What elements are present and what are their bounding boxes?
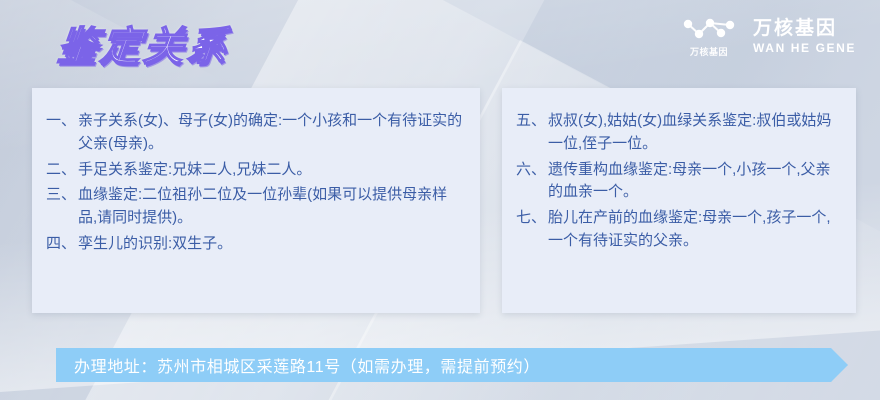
header: 鉴定关系	[0, 0, 880, 88]
list-item: 二、 手足关系鉴定:兄妹二人,兄妹二人。	[46, 159, 464, 182]
brand-mark-label: 万核基因	[690, 45, 728, 58]
address-banner: 办理地址：苏州市相城区采莲路11号（如需办理，需提前预约）	[56, 348, 848, 382]
list-item-text: 亲子关系(女)、母子(女)的确定:一个小孩和一个有待证实的父亲(母亲)。	[78, 110, 464, 156]
address-text: 办理地址：苏州市相城区采莲路11号（如需办理，需提前预约）	[74, 348, 540, 382]
list-item-number: 二、	[46, 159, 78, 182]
list-item: 三、 血缘鉴定:二位祖孙二位及一位孙辈(如果可以提供母亲样品,请同时提供)。	[46, 184, 464, 230]
list-item-text: 手足关系鉴定:兄妹二人,兄妹二人。	[78, 159, 464, 182]
list-item: 一、 亲子关系(女)、母子(女)的确定:一个小孩和一个有待证实的父亲(母亲)。	[46, 110, 464, 156]
list-item: 七、 胎儿在产前的血缘鉴定:母亲一个,孩子一个,一个有待证实的父亲。	[516, 207, 840, 253]
list-item-text: 孪生儿的识别:双生子。	[78, 233, 464, 256]
list-item: 六、 遗传重构血缘鉴定:母亲一个,小孩一个,父亲的血亲一个。	[516, 159, 840, 205]
list-item-number: 五、	[516, 110, 548, 133]
list-item-number: 七、	[516, 207, 548, 230]
brand-mark: 万核基因	[681, 16, 737, 58]
brand-name-cn: 万核基因	[753, 19, 856, 40]
brand-lockup: 万核基因 万核基因 WAN HE GENE	[681, 16, 856, 58]
list-item-number: 三、	[46, 184, 78, 207]
list-item-number: 六、	[516, 159, 548, 182]
list-item-text: 血缘鉴定:二位祖孙二位及一位孙辈(如果可以提供母亲样品,请同时提供)。	[78, 184, 464, 230]
brand-words: 万核基因 WAN HE GENE	[753, 19, 856, 55]
list-item-text: 遗传重构血缘鉴定:母亲一个,小孩一个,父亲的血亲一个。	[548, 159, 840, 205]
list-item-number: 四、	[46, 233, 78, 256]
brand-name-en: WAN HE GENE	[753, 42, 856, 55]
list-item: 五、 叔叔(女),姑姑(女)血绿关系鉴定:叔伯或姑妈一位,侄子一位。	[516, 110, 840, 156]
page-title: 鉴定关系	[55, 14, 233, 72]
list-item-text: 叔叔(女),姑姑(女)血绿关系鉴定:叔伯或姑妈一位,侄子一位。	[548, 110, 840, 156]
poster-root: 鉴定关系	[0, 0, 880, 400]
list-item-text: 胎儿在产前的血缘鉴定:母亲一个,孩子一个,一个有待证实的父亲。	[548, 207, 840, 253]
molecule-network-icon	[681, 16, 737, 42]
bg-band-5	[0, 150, 5, 400]
content-panels: 一、 亲子关系(女)、母子(女)的确定:一个小孩和一个有待证实的父亲(母亲)。 …	[32, 88, 856, 313]
panel-left: 一、 亲子关系(女)、母子(女)的确定:一个小孩和一个有待证实的父亲(母亲)。 …	[32, 88, 480, 313]
list-item: 四、 孪生儿的识别:双生子。	[46, 233, 464, 256]
panel-right: 五、 叔叔(女),姑姑(女)血绿关系鉴定:叔伯或姑妈一位,侄子一位。 六、 遗传…	[502, 88, 856, 313]
list-item-number: 一、	[46, 110, 78, 133]
